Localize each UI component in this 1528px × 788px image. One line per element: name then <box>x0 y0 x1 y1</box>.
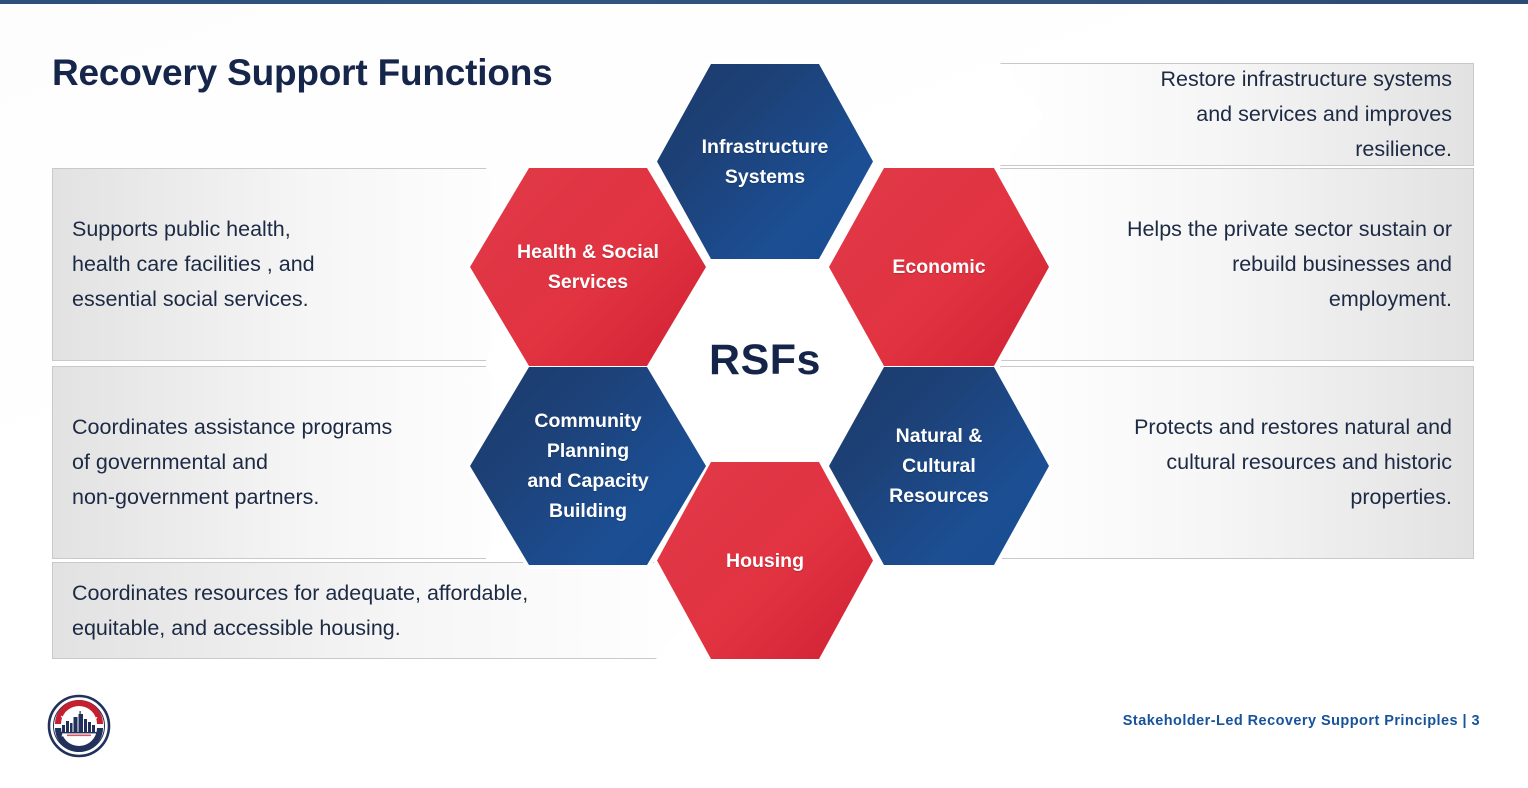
callout-economic-description: Helps the private sector sustain or rebu… <box>1000 168 1474 361</box>
callout-housing-description: Coordinates resources for adequate, affo… <box>52 562 700 659</box>
hexagon-label: Infrastructure Systems <box>688 132 843 192</box>
hexagon-label: Natural & Cultural Resources <box>875 421 1003 511</box>
city-of-los-angeles-seal-logo <box>46 694 112 758</box>
page-title: Recovery Support Functions <box>52 52 553 94</box>
hexagon-label: Health & Social Services <box>503 237 673 297</box>
center-label-rsfs: RSFs <box>690 336 840 385</box>
callout-community-planning-description: Coordinates assistance programs of gover… <box>52 366 530 559</box>
callout-text: Supports public health, health care faci… <box>52 212 530 317</box>
hexagon-label: Community Planning and Capacity Building <box>513 406 662 526</box>
callout-text: Restore infrastructure systems and servi… <box>1000 62 1474 167</box>
footer-deck-title-and-page-number: Stakeholder-Led Recovery Support Princip… <box>1123 713 1480 729</box>
callout-text: Protects and restores natural and cultur… <box>1000 410 1474 515</box>
hexagon-infrastructure-systems[interactable]: Infrastructure Systems <box>657 64 873 259</box>
callout-infrastructure-systems-description: Restore infrastructure systems and servi… <box>1000 63 1474 166</box>
slide-canvas: Restore infrastructure systems and servi… <box>0 0 1528 788</box>
callout-text: Helps the private sector sustain or rebu… <box>1000 212 1474 317</box>
callout-text: Coordinates assistance programs of gover… <box>52 410 530 515</box>
callout-health-social-services-description: Supports public health, health care faci… <box>52 168 530 361</box>
hexagon-label: Housing <box>712 546 818 576</box>
callout-natural-cultural-description: Protects and restores natural and cultur… <box>1000 366 1474 559</box>
hexagon-label: Economic <box>878 252 999 282</box>
top-accent-rule <box>0 0 1528 4</box>
callout-text: Coordinates resources for adequate, affo… <box>52 576 700 646</box>
